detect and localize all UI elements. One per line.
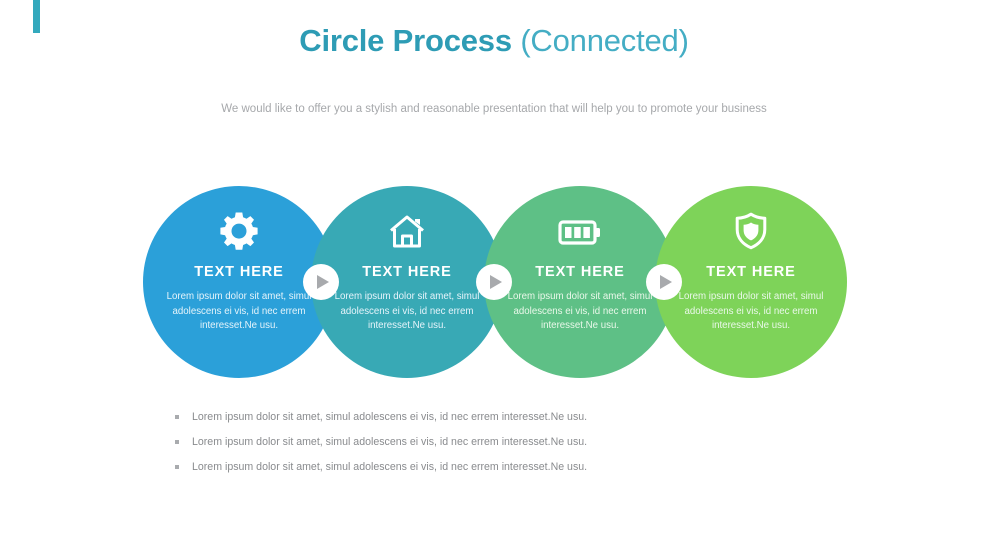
page-subtitle: We would like to offer you a stylish and… — [0, 101, 988, 117]
connector-arrow-3[interactable] — [646, 264, 682, 300]
battery-icon — [484, 208, 676, 254]
square-bullet-icon — [175, 440, 179, 444]
home-icon — [311, 208, 503, 254]
play-arrow-icon — [317, 275, 329, 289]
list-item-label: Lorem ipsum dolor sit amet, simul adoles… — [192, 461, 587, 473]
page-title-light: (Connected) — [520, 23, 688, 58]
process-circle-2[interactable]: TEXT HERE Lorem ipsum dolor sit amet, si… — [311, 186, 503, 378]
page-title: Circle Process (Connected) — [0, 20, 988, 62]
list-item-label: Lorem ipsum dolor sit amet, simul adoles… — [192, 436, 587, 448]
list-item: Lorem ipsum dolor sit amet, simul adoles… — [174, 434, 814, 450]
list-item-label: Lorem ipsum dolor sit amet, simul adoles… — [192, 411, 587, 423]
connector-arrow-2[interactable] — [476, 264, 512, 300]
list-item: Lorem ipsum dolor sit amet, simul adoles… — [174, 459, 814, 475]
gear-icon — [143, 208, 335, 254]
circle-body: Lorem ipsum dolor sit amet, simul adoles… — [496, 290, 664, 334]
play-arrow-icon — [490, 275, 502, 289]
shield-icon — [655, 208, 847, 254]
play-arrow-icon — [660, 275, 672, 289]
list-item: Lorem ipsum dolor sit amet, simul adoles… — [174, 409, 814, 425]
circle-process-row: TEXT HERE Lorem ipsum dolor sit amet, si… — [0, 186, 988, 382]
circle-heading: TEXT HERE — [655, 264, 847, 280]
circle-body: Lorem ipsum dolor sit amet, simul adoles… — [323, 290, 491, 334]
process-circle-4[interactable]: TEXT HERE Lorem ipsum dolor sit amet, si… — [655, 186, 847, 378]
circle-body: Lorem ipsum dolor sit amet, simul adoles… — [667, 290, 835, 334]
page-title-strong: Circle Process — [299, 23, 512, 58]
square-bullet-icon — [175, 465, 179, 469]
circle-heading: TEXT HERE — [311, 264, 503, 280]
bullet-list: Lorem ipsum dolor sit amet, simul adoles… — [174, 409, 814, 484]
square-bullet-icon — [175, 415, 179, 419]
connector-arrow-1[interactable] — [303, 264, 339, 300]
circle-body: Lorem ipsum dolor sit amet, simul adoles… — [155, 290, 323, 334]
